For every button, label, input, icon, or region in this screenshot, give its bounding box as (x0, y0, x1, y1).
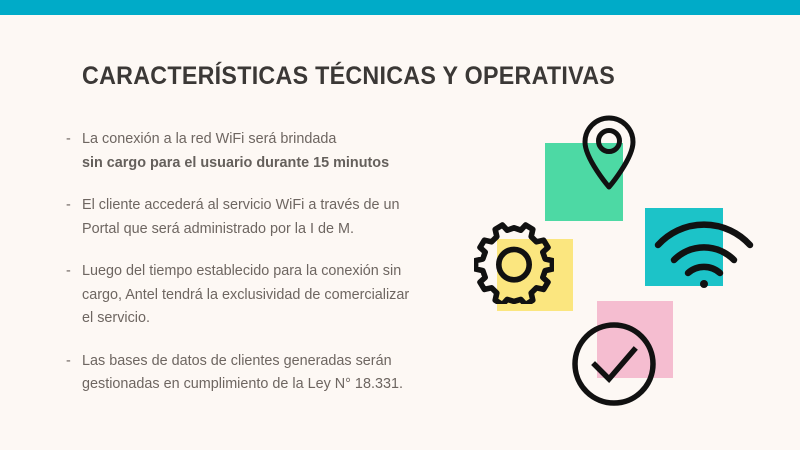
bullet-line: sin cargo para el usuario durante 15 min… (82, 152, 476, 176)
list-item: - Las bases de datos de clientes generad… (66, 350, 476, 397)
bullet-line: La conexión a la red WiFi será brindada (82, 128, 476, 152)
location-pin-icon (580, 114, 638, 190)
bullet-line: Luego del tiempo establecido para la con… (82, 260, 476, 284)
bullet-marker: - (66, 128, 71, 152)
bullet-line: El cliente accederá al servicio WiFi a t… (82, 194, 476, 218)
bullet-line: cargo, Antel tendrá la exclusividad de c… (82, 284, 476, 308)
page-title: CARACTERÍSTICAS TÉCNICAS Y OPERATIVAS (82, 62, 615, 91)
slide: CARACTERÍSTICAS TÉCNICAS Y OPERATIVAS - … (0, 0, 800, 450)
teal-square (645, 208, 723, 286)
list-item: - La conexión a la red WiFi será brindad… (66, 128, 476, 175)
green-square (545, 143, 623, 221)
bullet-list: - La conexión a la red WiFi será brindad… (66, 128, 476, 416)
bullet-marker: - (66, 350, 71, 374)
gear-icon (474, 222, 554, 304)
check-circle-icon (570, 320, 658, 408)
bullet-line: Portal que será administrado por la I de… (82, 218, 476, 242)
wifi-icon (652, 212, 756, 292)
bullet-line: el servicio. (82, 307, 476, 331)
bullet-marker: - (66, 194, 71, 218)
bullet-line: gestionadas en cumplimiento de la Ley N°… (82, 373, 476, 397)
yellow-square (497, 239, 573, 311)
list-item: - Luego del tiempo establecido para la c… (66, 260, 476, 331)
list-item: - El cliente accederá al servicio WiFi a… (66, 194, 476, 241)
pink-square (597, 301, 673, 378)
bullet-line: Las bases de datos de clientes generadas… (82, 350, 476, 374)
top-accent-bar (0, 0, 800, 15)
bullet-marker: - (66, 260, 71, 284)
